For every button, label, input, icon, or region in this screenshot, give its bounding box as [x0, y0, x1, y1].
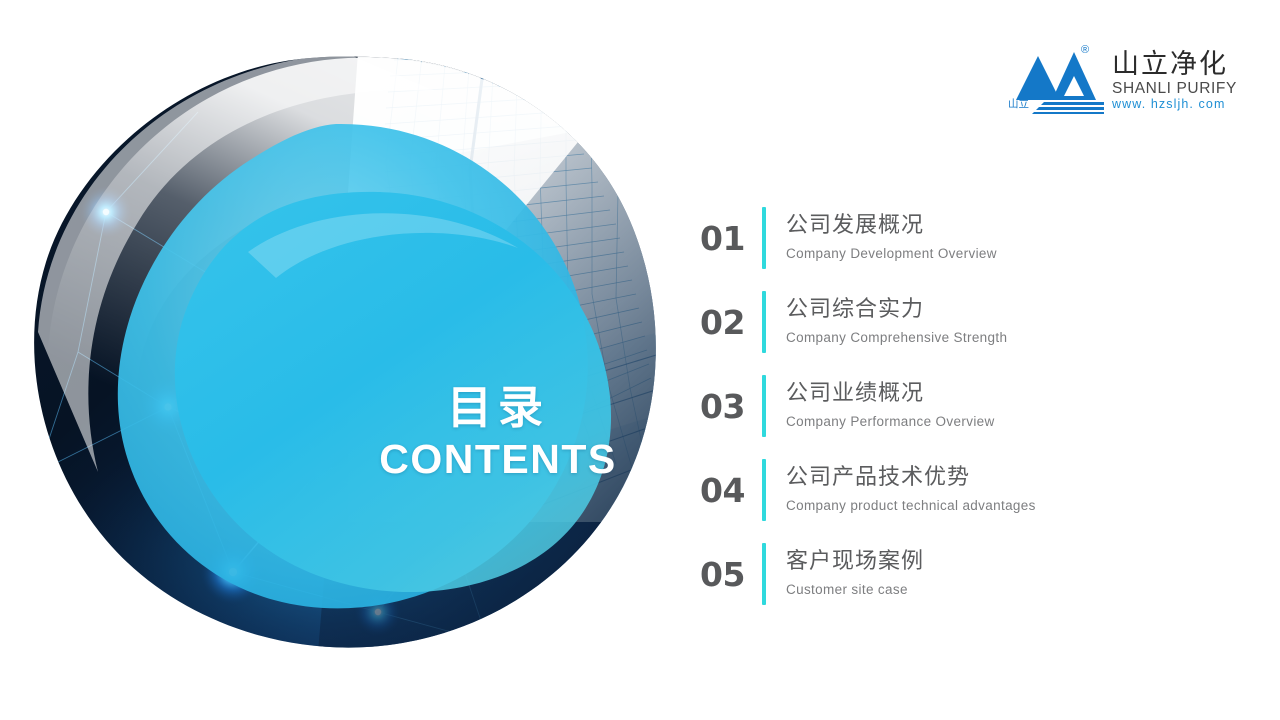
logo-wordmark: 山立净化 SHANLI PURIFY www. hzsljh. com [1112, 44, 1237, 112]
contents-item-text: 公司产品技术优势 Company product technical advan… [786, 463, 1230, 517]
contents-item-accent-bar [762, 375, 766, 437]
contents-item-number: 04 [700, 474, 762, 507]
contents-item-number: 03 [700, 390, 762, 423]
logo-company-name-en: SHANLI PURIFY [1112, 80, 1237, 97]
contents-item-accent-bar [762, 207, 766, 269]
contents-item-title-en: Company Development Overview [786, 243, 1230, 265]
contents-item-title-en: Company Comprehensive Strength [786, 327, 1230, 349]
contents-item-title-cn: 客户现场案例 [786, 547, 1230, 577]
contents-item-accent-bar [762, 459, 766, 521]
contents-item-number: 05 [700, 558, 762, 591]
contents-item-05[interactable]: 05 客户现场案例 Customer site case [700, 532, 1230, 616]
contents-item-text: 客户现场案例 Customer site case [786, 547, 1230, 601]
contents-item-title-cn: 公司业绩概况 [786, 379, 1230, 409]
contents-item-title-en: Company product technical advantages [786, 495, 1230, 517]
contents-item-title-cn: 公司发展概况 [786, 211, 1230, 241]
contents-item-number: 01 [700, 222, 762, 255]
contents-item-title-en: Company Performance Overview [786, 411, 1230, 433]
shanli-mountain-logo-icon: ® 山立 [1008, 44, 1108, 114]
contents-item-accent-bar [762, 291, 766, 353]
contents-item-02[interactable]: 02 公司综合实力 Company Comprehensive Strength [700, 280, 1230, 364]
contents-item-text: 公司发展概况 Company Development Overview [786, 211, 1230, 265]
contents-item-text: 公司综合实力 Company Comprehensive Strength [786, 295, 1230, 349]
contents-item-title-cn: 公司产品技术优势 [786, 463, 1230, 493]
contents-item-01[interactable]: 01 公司发展概况 Company Development Overview [700, 196, 1230, 280]
company-logo: ® 山立 山立净化 SHANLI PURIFY www. hzsljh. com [1008, 44, 1236, 116]
contents-item-text: 公司业绩概况 Company Performance Overview [786, 379, 1230, 433]
contents-item-03[interactable]: 03 公司业绩概况 Company Performance Overview [700, 364, 1230, 448]
logo-company-name-cn: 山立净化 [1112, 50, 1237, 80]
contents-blob-graphic: 目录 CONTENTS [18, 52, 678, 652]
contents-item-title-en: Customer site case [786, 579, 1230, 601]
registered-trademark-icon: ® [1081, 45, 1089, 56]
contents-item-accent-bar [762, 543, 766, 605]
slide-canvas: ® 山立 山立净化 SHANLI PURIFY www. hzsljh. com [0, 0, 1280, 720]
logo-mark-caption: 山立 [1008, 96, 1029, 111]
contents-item-title-cn: 公司综合实力 [786, 295, 1230, 325]
contents-item-04[interactable]: 04 公司产品技术优势 Company product technical ad… [700, 448, 1230, 532]
contents-item-number: 02 [700, 306, 762, 339]
logo-website-url: www. hzsljh. com [1112, 97, 1237, 112]
contents-list: 01 公司发展概况 Company Development Overview 0… [700, 196, 1230, 616]
